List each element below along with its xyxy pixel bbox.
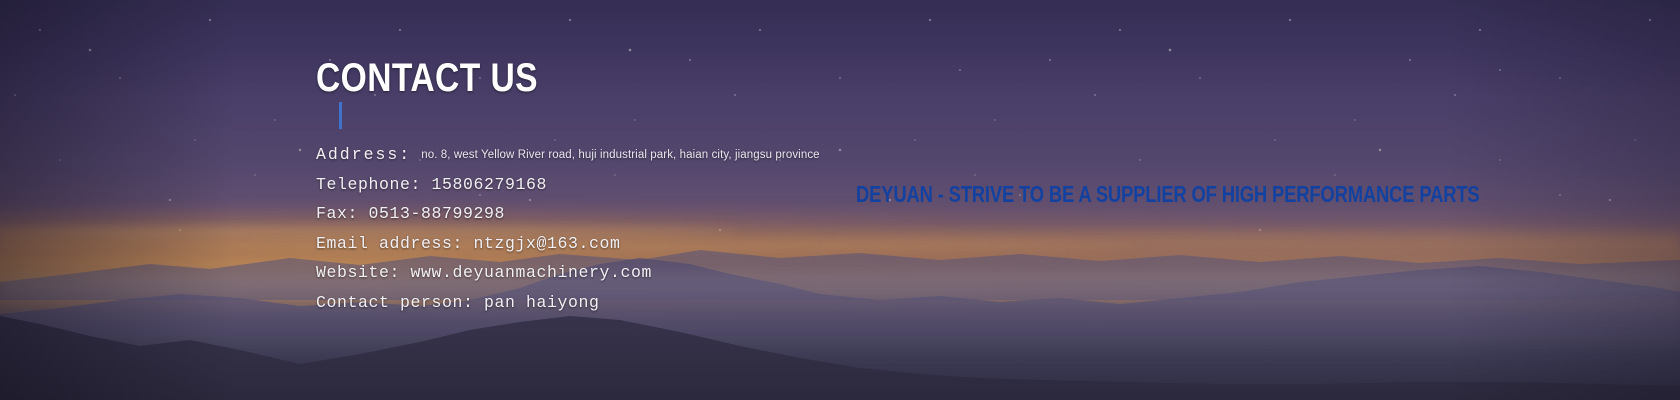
address-label: Address: (316, 145, 411, 164)
contact-details-list: Address:no. 8, west Yellow River road, h… (316, 140, 820, 317)
contact-row-website[interactable]: Website: www.deyuanmachinery.com (316, 258, 820, 288)
contact-banner: CONTACT US Address:no. 8, west Yellow Ri… (0, 0, 1680, 400)
contact-row-telephone: Telephone: 15806279168 (316, 170, 820, 200)
contact-row-email[interactable]: Email address: ntzgjx@163.com (316, 229, 820, 259)
company-tagline: DEYUAN - STRIVE TO BE A SUPPLIER OF HIGH… (856, 183, 1480, 206)
accent-bar (339, 102, 342, 129)
contact-row-address: Address:no. 8, west Yellow River road, h… (316, 140, 820, 170)
banner-content: CONTACT US Address:no. 8, west Yellow Ri… (0, 0, 1680, 400)
page-title: CONTACT US (316, 58, 538, 98)
contact-row-fax: Fax: 0513-88799298 (316, 199, 820, 229)
contact-row-contact-person: Contact person: pan haiyong (316, 288, 820, 318)
address-value: no. 8, west Yellow River road, huji indu… (411, 149, 819, 161)
